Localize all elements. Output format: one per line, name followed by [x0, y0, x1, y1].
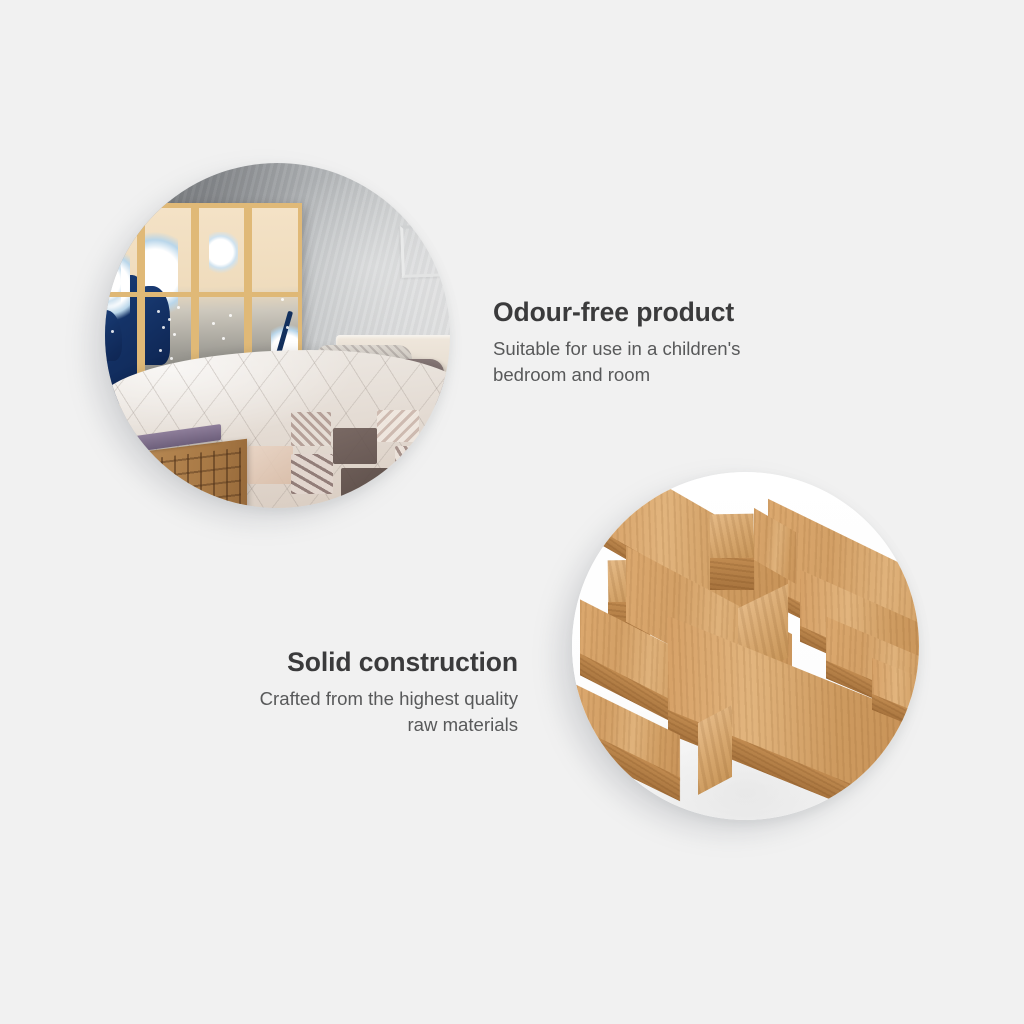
- feature-description-line: bedroom and room: [493, 364, 650, 385]
- quilt-patch: [341, 468, 389, 508]
- feature-image-stacked-timber-beams: [572, 472, 919, 820]
- quilt-patch: [247, 446, 293, 484]
- feature-image-bedroom-with-japanese-folding-screen: [105, 163, 450, 508]
- block-end-grain-face: [710, 514, 755, 559]
- wall-picture-frame: [400, 224, 450, 278]
- feature-description-line: Suitable for use in a children's: [493, 338, 740, 359]
- quilt-patch: [291, 412, 331, 446]
- feature-title-odour-free: Odour-free product: [493, 296, 853, 328]
- feature-description-odour-free: Suitable for use in a children's bedroom…: [493, 336, 853, 388]
- quilt-patch: [377, 410, 419, 442]
- quilt-patch: [333, 428, 377, 464]
- nightstand-lattice: [135, 447, 241, 508]
- feature-description-solid-construction: Crafted from the highest quality raw mat…: [140, 686, 518, 738]
- feature-text-odour-free: Odour-free product Suitable for use in a…: [493, 296, 853, 388]
- quilt-patch: [291, 454, 333, 494]
- timber-block-top-center: [710, 514, 755, 559]
- feature-title-solid-construction: Solid construction: [140, 646, 518, 678]
- bedroom-scene: [105, 163, 450, 508]
- timber-block-top-center-front: [710, 558, 754, 590]
- block-front-face: [710, 558, 754, 590]
- quilt-patch: [395, 446, 439, 480]
- infographic-canvas: Odour-free product Suitable for use in a…: [0, 0, 1024, 1024]
- timber-scene: [572, 472, 919, 820]
- feature-text-solid-construction: Solid construction Crafted from the high…: [140, 646, 518, 738]
- feature-description-line: Crafted from the highest quality: [260, 688, 518, 709]
- feature-description-line: raw materials: [407, 714, 518, 735]
